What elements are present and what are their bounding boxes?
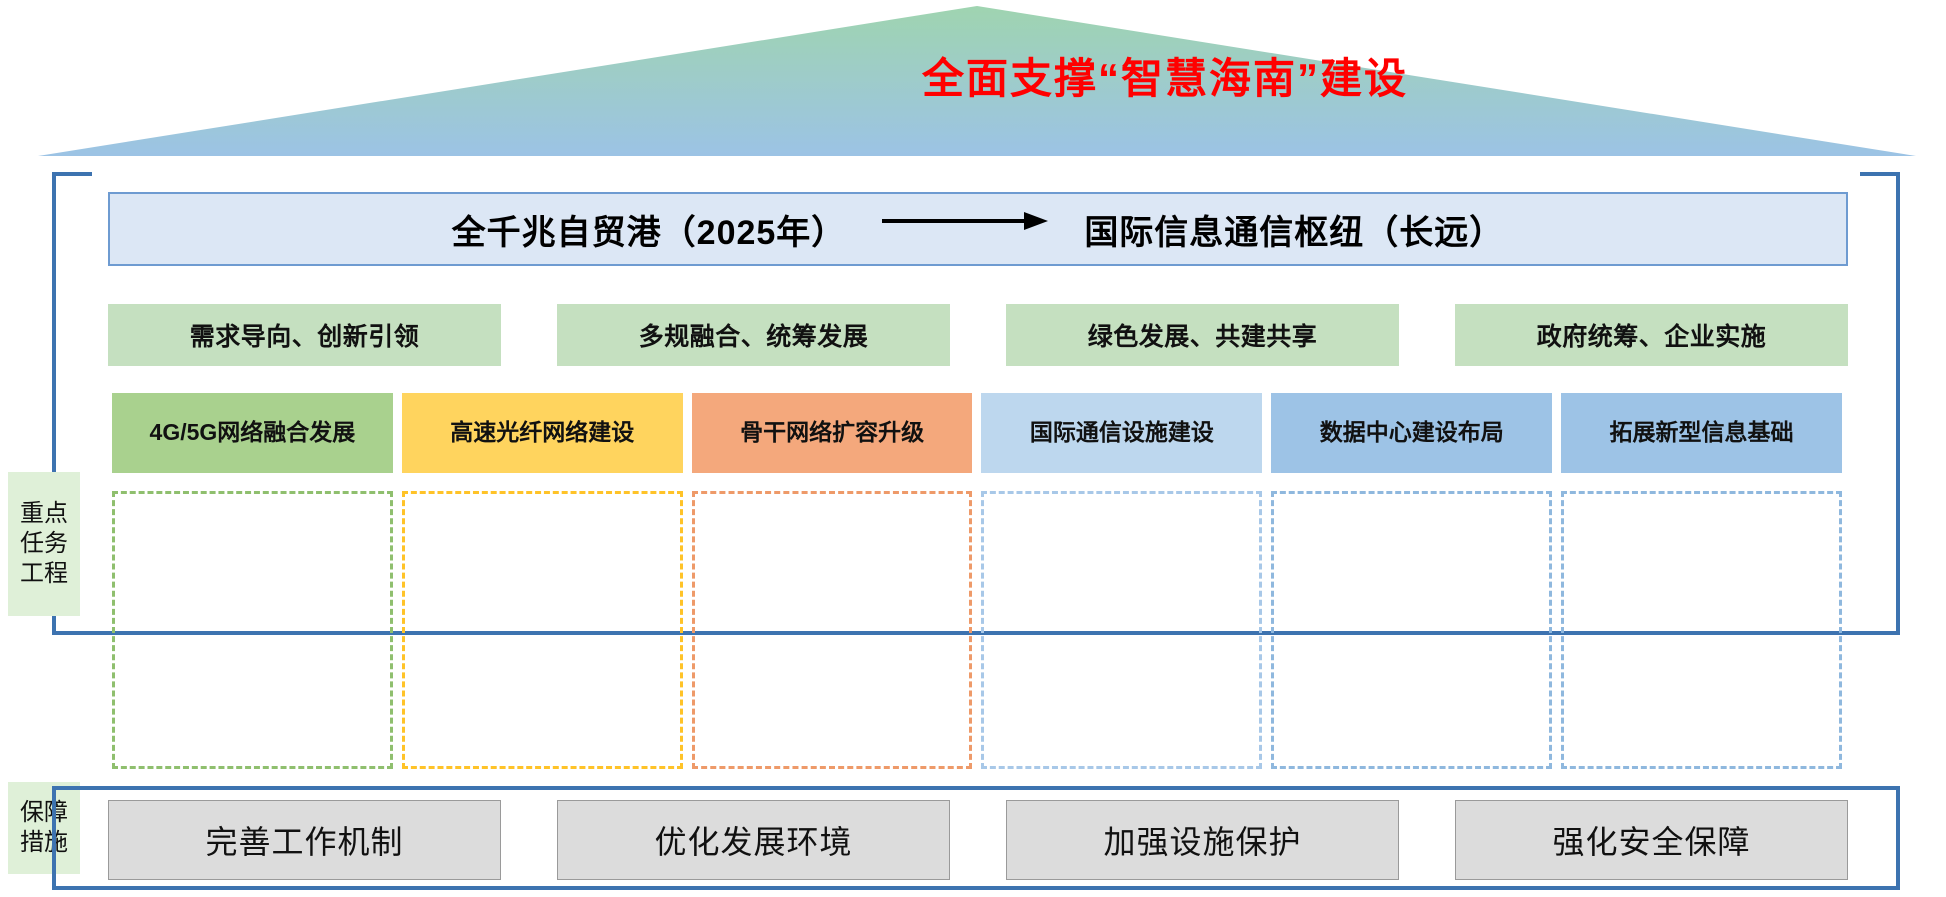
roof-triangle: 全面支撑“智慧海南”建设 bbox=[38, 6, 1916, 156]
task-label: 高速光纤网络建设 bbox=[450, 420, 634, 445]
task-label: 骨干网络扩容升级 bbox=[740, 420, 924, 445]
roof-title-text: 全面支撑“智慧海南”建设 bbox=[922, 55, 1408, 102]
measure-box-4: 强化安全保障 bbox=[1455, 800, 1848, 880]
bracket-stub-right bbox=[1860, 172, 1900, 176]
arrow-right-svg bbox=[880, 210, 1050, 232]
bracket-stub-left bbox=[52, 172, 92, 176]
task-body-1 bbox=[112, 491, 393, 769]
task-label: 数据中心建设布局 bbox=[1320, 420, 1504, 445]
task-header-4: 国际通信设施建设 bbox=[981, 393, 1262, 473]
measure-box-3: 加强设施保护 bbox=[1006, 800, 1399, 880]
measure-label: 优化发展环境 bbox=[654, 817, 852, 863]
task-body-row bbox=[112, 491, 1842, 769]
principle-box-2: 多规融合、统筹发展 bbox=[557, 304, 950, 366]
task-header-5: 数据中心建设布局 bbox=[1271, 393, 1552, 473]
arrow-right-icon bbox=[880, 210, 1050, 237]
task-header-3: 骨干网络扩容升级 bbox=[692, 393, 973, 473]
measure-label: 完善工作机制 bbox=[205, 817, 403, 863]
goal-near-term: 全千兆自贸港（2025年） bbox=[452, 205, 847, 254]
principle-box-1: 需求导向、创新引领 bbox=[108, 304, 501, 366]
principle-box-3: 绿色发展、共建共享 bbox=[1006, 304, 1399, 366]
task-header-2: 高速光纤网络建设 bbox=[402, 393, 683, 473]
principle-label: 需求导向、创新引领 bbox=[190, 317, 420, 353]
diagram-canvas: 全面支撑“智慧海南”建设 全千兆自贸港（2025年） 国际信息通信枢纽（长远） … bbox=[0, 0, 1946, 897]
side-label-key-tasks: 重点 任务 工程 bbox=[8, 472, 80, 616]
task-label: 拓展新型信息基础 bbox=[1610, 420, 1794, 445]
measures-row: 完善工作机制 优化发展环境 加强设施保护 强化安全保障 bbox=[108, 800, 1848, 880]
measure-box-1: 完善工作机制 bbox=[108, 800, 501, 880]
task-label: 4G/5G网络融合发展 bbox=[150, 420, 356, 445]
measure-label: 加强设施保护 bbox=[1103, 817, 1301, 863]
task-body-3 bbox=[692, 491, 973, 769]
principle-label: 多规融合、统筹发展 bbox=[639, 317, 869, 353]
measure-label: 强化安全保障 bbox=[1552, 817, 1750, 863]
task-body-6 bbox=[1561, 491, 1842, 769]
goal-long-term: 国际信息通信枢纽（长远） bbox=[1084, 205, 1504, 254]
task-header-1: 4G/5G网络融合发展 bbox=[112, 393, 393, 473]
side-label-line: 重点 bbox=[20, 499, 68, 529]
principle-label: 政府统筹、企业实施 bbox=[1537, 317, 1767, 353]
task-header-row: 4G/5G网络融合发展 高速光纤网络建设 骨干网络扩容升级 国际通信设施建设 数… bbox=[112, 393, 1842, 473]
roof-title: 全面支撑“智慧海南”建设 bbox=[38, 58, 1916, 100]
side-label-line: 工程 bbox=[20, 559, 68, 589]
measure-box-2: 优化发展环境 bbox=[557, 800, 950, 880]
side-label-line: 任务 bbox=[20, 529, 68, 559]
task-label: 国际通信设施建设 bbox=[1030, 420, 1214, 445]
task-header-6: 拓展新型信息基础 bbox=[1561, 393, 1842, 473]
task-body-5 bbox=[1271, 491, 1552, 769]
principle-label: 绿色发展、共建共享 bbox=[1088, 317, 1318, 353]
goal-bar: 全千兆自贸港（2025年） 国际信息通信枢纽（长远） bbox=[108, 192, 1848, 266]
task-body-2 bbox=[402, 491, 683, 769]
principles-row: 需求导向、创新引领 多规融合、统筹发展 绿色发展、共建共享 政府统筹、企业实施 bbox=[108, 304, 1848, 366]
task-body-4 bbox=[981, 491, 1262, 769]
principle-box-4: 政府统筹、企业实施 bbox=[1455, 304, 1848, 366]
